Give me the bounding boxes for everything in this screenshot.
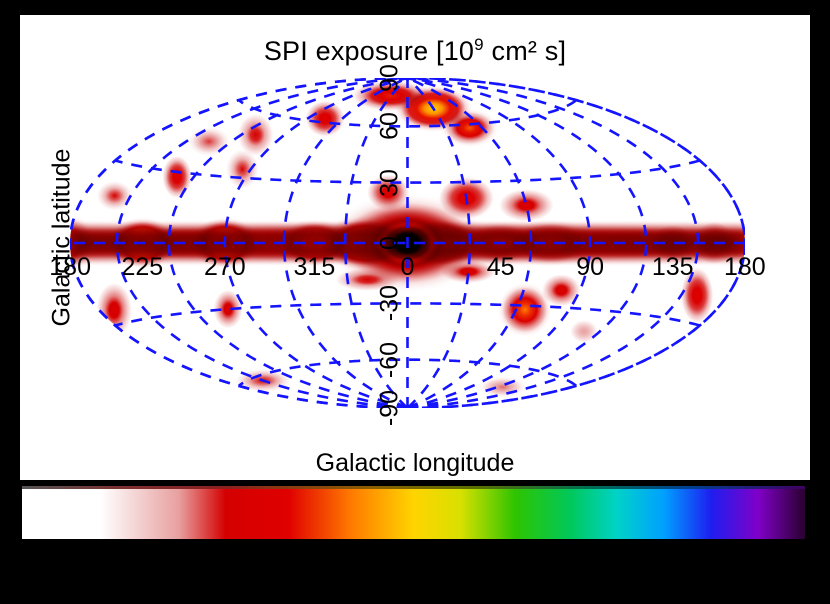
plot-panel: SPI exposure [109 cm² s] Galactic latitu… [20,15,810,480]
colorbar-gradient [22,489,805,539]
lat-tick-label: -60 [375,342,404,378]
plot-title-exponent: 9 [474,35,484,54]
lat-tick-label: -90 [375,390,404,426]
lon-tick-label: 180 [724,253,766,282]
figure-root: SPI exposure [109 cm² s] Galactic latitu… [0,0,830,604]
lon-tick-label: 45 [487,253,515,282]
plot-title-tail: cm² s] [484,36,566,66]
lon-tick-label: 180 [49,253,91,282]
colorbar [22,489,805,539]
lat-tick-label: -30 [375,285,404,321]
lat-tick-label: 0 [375,236,404,250]
lon-tick-label: 90 [576,253,604,282]
y-axis-label: Galactic latitude [48,28,77,448]
x-axis-label: Galactic longitude [20,449,810,478]
lat-tick-label: 30 [375,169,404,197]
sky-map [70,78,745,408]
lon-tick-label: 225 [121,253,163,282]
lon-tick-label: 0 [401,253,415,282]
lon-tick-label: 315 [294,253,336,282]
lon-tick-label: 135 [652,253,694,282]
plot-title: SPI exposure [109 cm² s] [20,35,810,67]
lat-tick-label: 60 [375,112,404,140]
lon-tick-label: 270 [204,253,246,282]
plot-title-main: SPI exposure [10 [264,36,474,66]
lat-tick-label: 90 [375,64,404,92]
